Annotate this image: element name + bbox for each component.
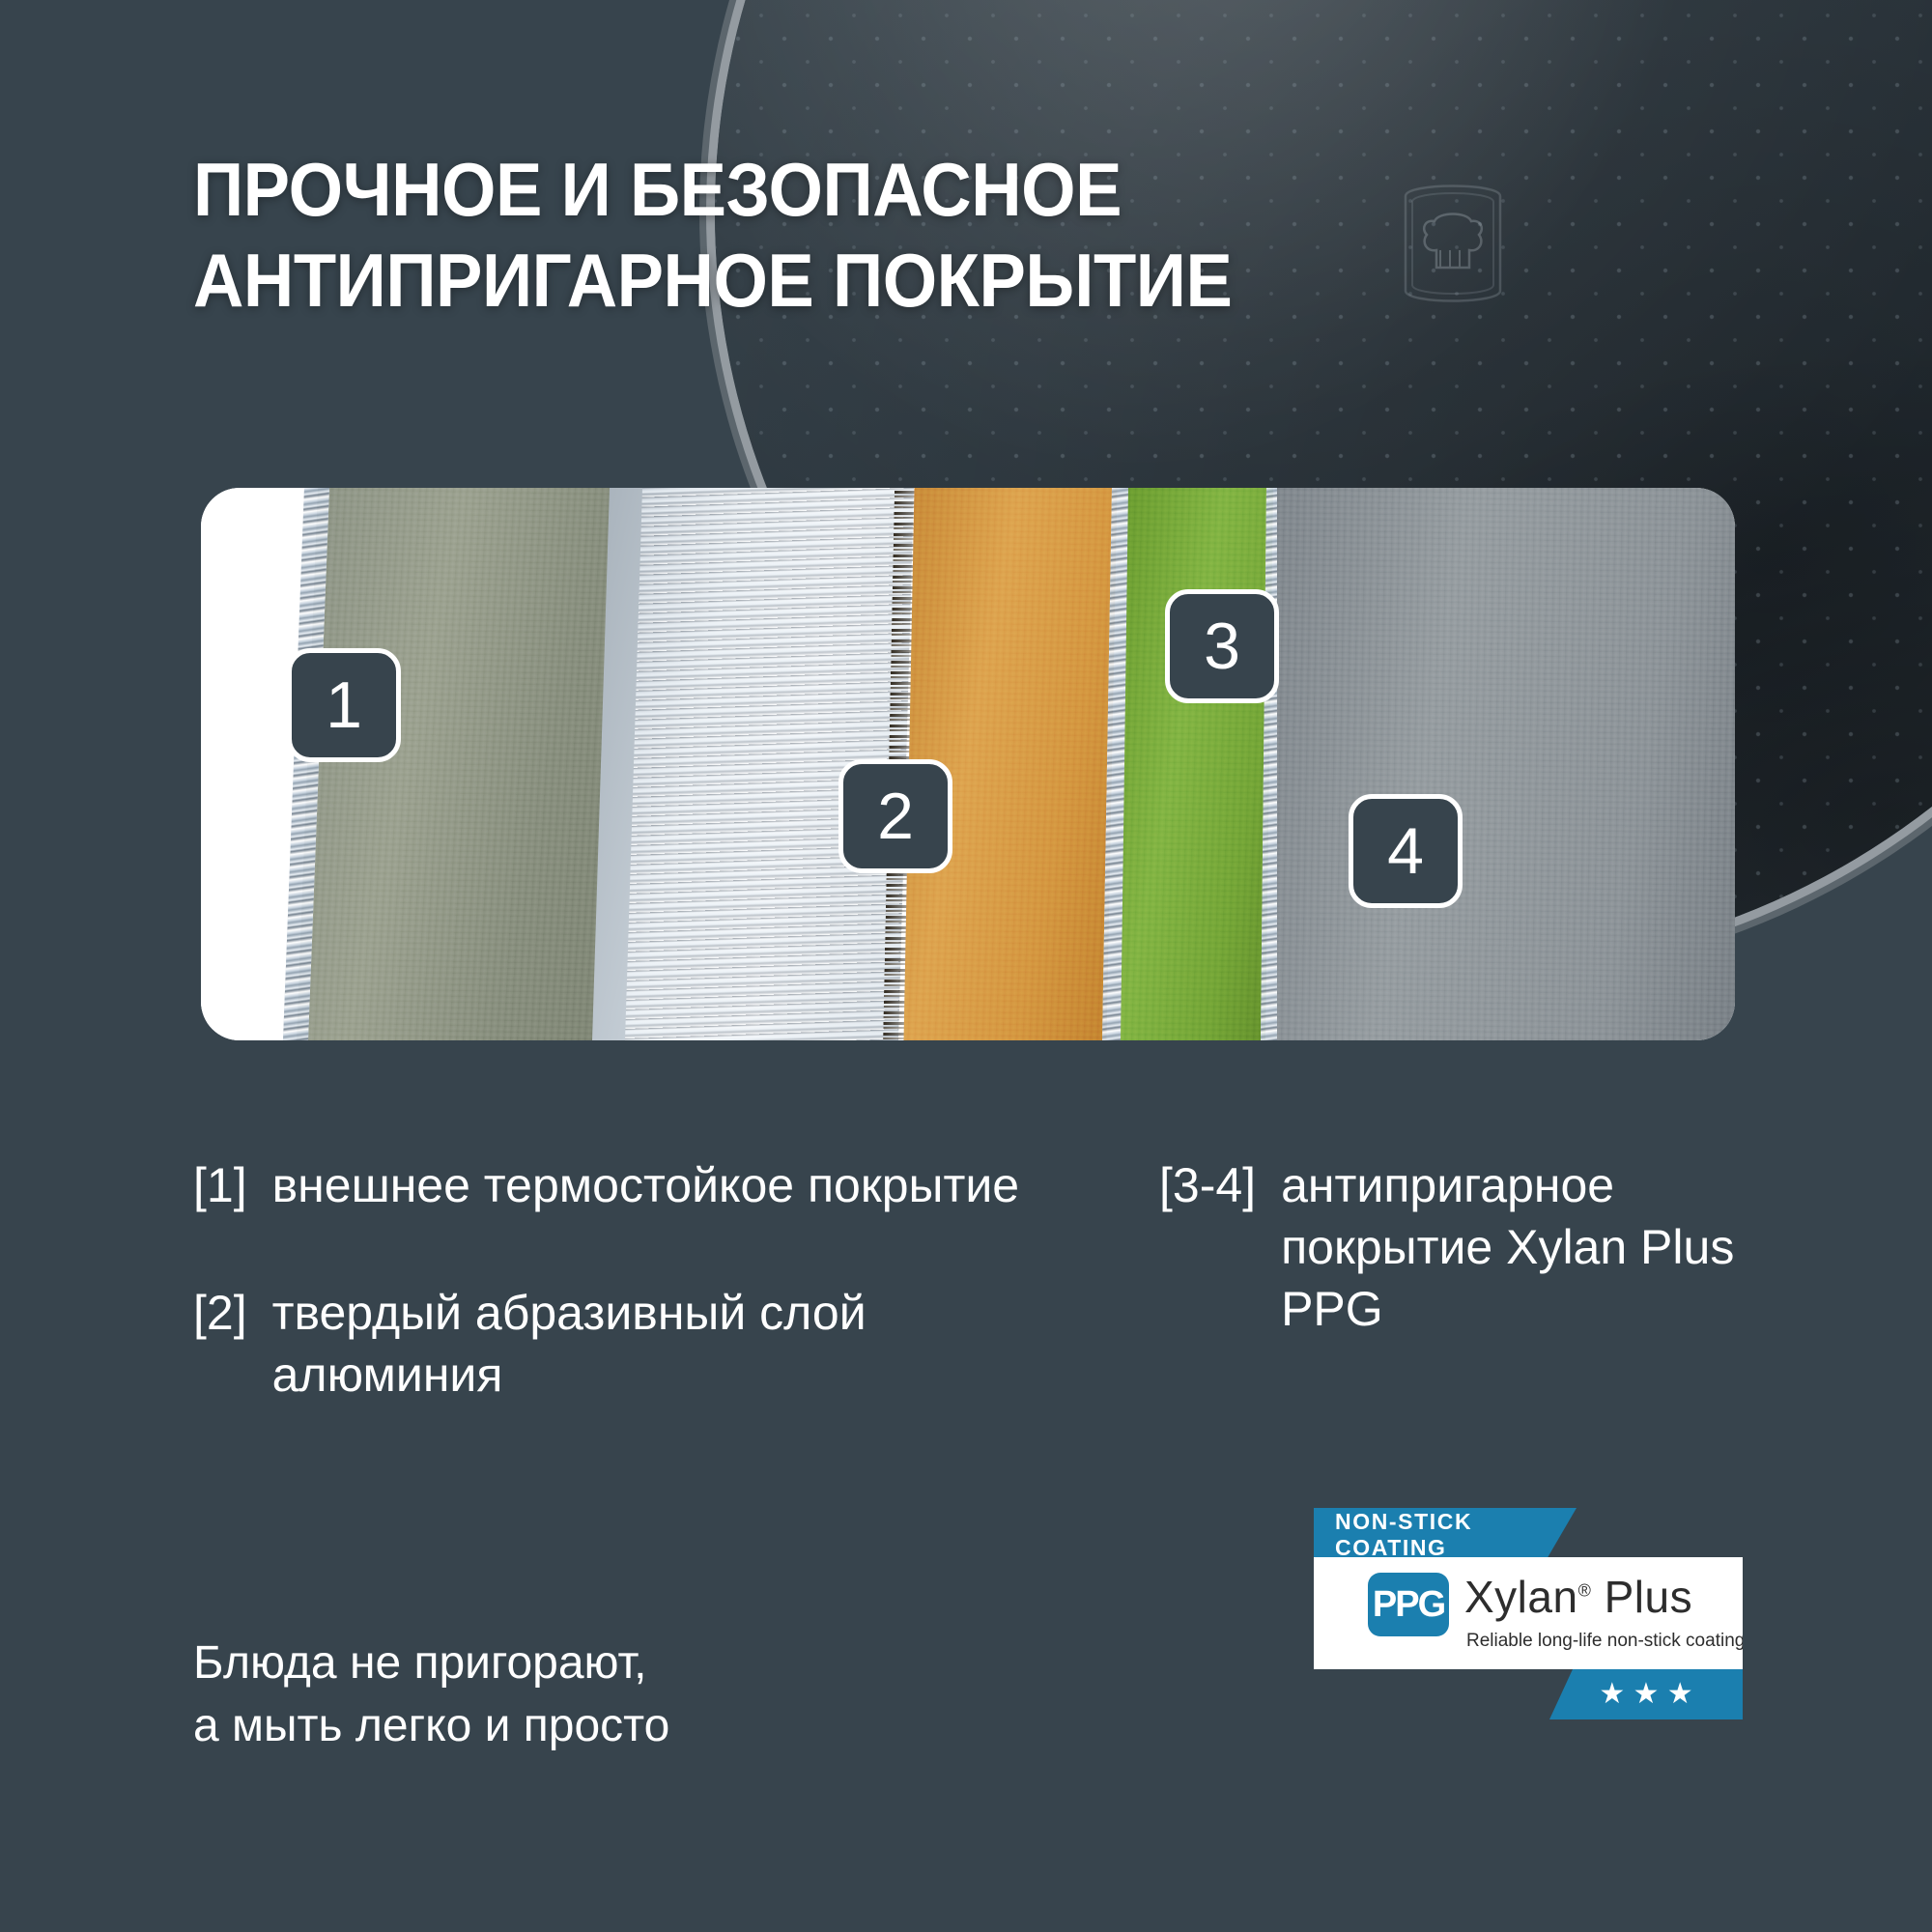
ppg-badge-body: PPG Xylan® Plus Reliable long-life non-s… [1314,1557,1743,1669]
page-title-line-2: АНТИПРИГАРНОЕ ПОКРЫТИЕ [193,236,1469,327]
ppg-xylan-plus-badge: NON-STICK COATING PPG Xylan® Plus Reliab… [1306,1497,1750,1744]
ppg-tagline: Reliable long-life non-stick coating [1466,1631,1745,1652]
legend-item-3-4-text: антипригарное покрытие Xylan Plus PPG [1281,1154,1758,1340]
legend-item-2-text: твердый абразивный слой алюминия [272,1282,1043,1406]
legend-column-right: [3-4] антипригарное покрытие Xylan Plus … [1159,1154,1758,1406]
coating-layer-stack [201,488,1735,1040]
closing-line-1: Блюда не пригорают, [193,1633,1063,1695]
page-title: ПРОЧНОЕ И БЕЗОПАСНОЕ АНТИПРИГАРНОЕ ПОКРЫ… [193,145,1469,326]
legend-item-2: [2] твердый абразивный слой алюминия [193,1282,1043,1406]
legend-item-1-tag: [1] [193,1154,247,1216]
ppg-logo: PPG [1368,1573,1449,1636]
layer-badge-3[interactable]: 3 [1165,589,1279,703]
card-left-margin [201,488,265,1040]
layer-badge-4[interactable]: 4 [1349,794,1463,908]
coating-cross-section-diagram [201,488,1735,1040]
layer-heat-resistant-outer [297,488,641,1040]
ppg-stars: ★ ★ ★ [1599,1680,1692,1709]
ppg-product-name: Xylan® Plus [1464,1571,1692,1623]
layer-badge-1[interactable]: 1 [287,648,401,762]
page-title-line-1: ПРОЧНОЕ И БЕЗОПАСНОЕ [193,145,1469,236]
legend-column-left: [1] внешнее термостойкое покрытие [2] тв… [193,1154,1043,1471]
legend-item-1-text: внешнее термостойкое покрытие [272,1154,1020,1216]
layer-topcoat-grey [1277,488,1735,1040]
layer-midcoat-green [1121,488,1273,1040]
ppg-product-plus: Plus [1605,1572,1692,1622]
closing-statement: Блюда не пригорают, а мыть легко и прост… [193,1633,1063,1758]
ppg-product-xylan: Xylan [1464,1572,1578,1622]
closing-line-2: а мыть легко и просто [193,1695,1063,1758]
ppg-registered-mark: ® [1578,1581,1592,1601]
legend-item-1: [1] внешнее термостойкое покрытие [193,1154,1043,1216]
legend-item-3-4: [3-4] антипригарное покрытие Xylan Plus … [1159,1154,1758,1340]
layer-badge-2[interactable]: 2 [838,759,952,873]
ppg-badge-top-banner: NON-STICK COATING [1314,1508,1577,1562]
legend-item-3-4-tag: [3-4] [1159,1154,1256,1216]
legend-item-2-tag: [2] [193,1282,247,1344]
ppg-badge-stars-banner: ★ ★ ★ [1549,1669,1743,1719]
